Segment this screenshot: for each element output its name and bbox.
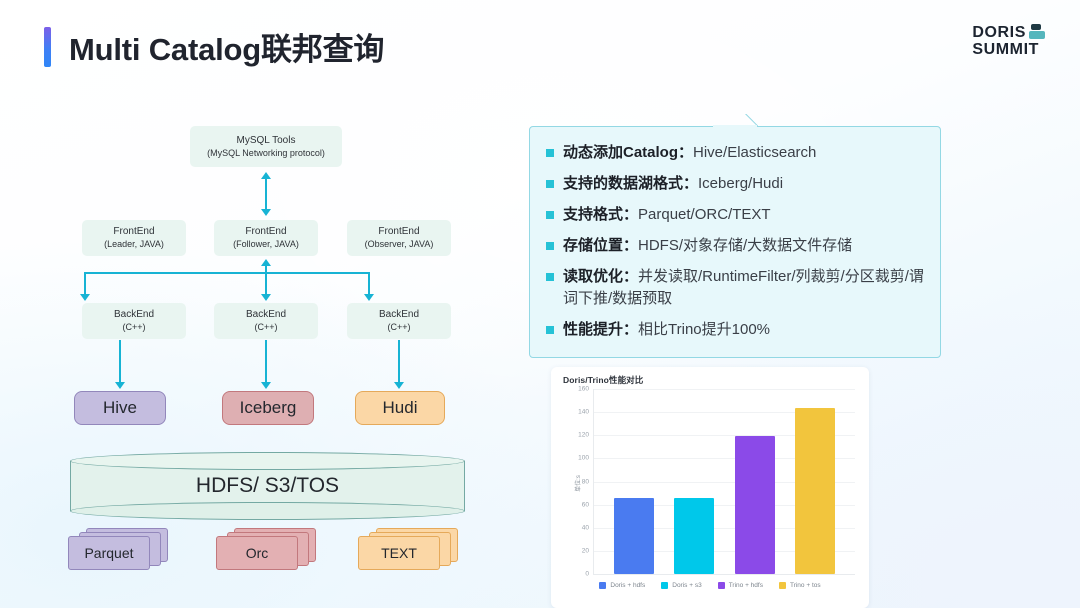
arrow-line-be2-iceberg <box>265 340 267 384</box>
feature-label-2: 支持格式： <box>563 206 638 223</box>
feature-list: 动态添加Catalog：Hive/Elasticsearch 支持的数据湖格式：… <box>546 142 926 350</box>
legend-swatch-icon <box>779 582 786 589</box>
chart-bars <box>594 389 855 574</box>
feature-label-0: 动态添加Catalog： <box>563 144 693 161</box>
node-backend-1-line2: (C++) <box>122 321 145 334</box>
node-backend-2: BackEnd (C++) <box>214 303 318 339</box>
chart-y-axis-label: 单位:s <box>573 475 582 492</box>
chart-bar <box>614 498 654 574</box>
node-mysql-tools: MySQL Tools (MySQL Networking protocol) <box>190 126 342 167</box>
arrow-down-hive-icon <box>115 382 125 389</box>
doris-summit-logo: DORIS SUMMIT <box>972 24 1046 58</box>
feature-value-5: 相比Trino提升100% <box>638 321 770 338</box>
node-frontend-follower-line2: (Follower, JAVA) <box>233 238 299 251</box>
bullet-square-icon <box>546 273 554 281</box>
chart-y-tick-label: 140 <box>578 409 589 416</box>
storage-cylinder: HDFS/ S3/TOS <box>70 452 465 520</box>
chart-legend-label: Doris + hdfs <box>610 582 645 589</box>
bullet-square-icon <box>546 180 554 188</box>
node-backend-2-line1: BackEnd <box>246 308 286 321</box>
chart-plot-area: 020406080100120140160 <box>593 389 855 574</box>
node-frontend-observer-line1: FrontEnd <box>378 225 419 238</box>
file-stack-orc: Orc <box>216 528 316 570</box>
chart-bar <box>674 498 714 574</box>
chart-legend-label: Trino + hdfs <box>729 582 763 589</box>
file-stack-parquet-label: Parquet <box>84 545 133 561</box>
bullet-square-icon <box>546 326 554 334</box>
feature-value-3: HDFS/对象存储/大数据文件存储 <box>638 237 852 254</box>
file-stack-parquet: Parquet <box>68 528 168 570</box>
chart-bar <box>735 436 775 574</box>
chart-bar <box>795 408 835 575</box>
chart-y-tick-label: 60 <box>582 501 589 508</box>
doris-logo-mark-icon <box>1029 24 1046 41</box>
arrow-line-be1-hive <box>119 340 121 384</box>
arrow-down-iceberg-icon <box>261 382 271 389</box>
feature-item-storage-location: 存储位置：HDFS/对象存储/大数据文件存储 <box>546 235 926 257</box>
node-hudi: Hudi <box>355 391 445 425</box>
arrow-down-be-mid-icon <box>261 294 271 301</box>
node-backend-3-line2: (C++) <box>387 321 410 334</box>
chart-y-tick-label: 40 <box>582 524 589 531</box>
feature-value-2: Parquet/ORC/TEXT <box>638 206 771 223</box>
node-frontend-follower: FrontEnd (Follower, JAVA) <box>214 220 318 256</box>
node-hudi-label: Hudi <box>383 398 418 418</box>
node-frontend-leader-line1: FrontEnd <box>113 225 154 238</box>
arrow-down-icon <box>261 209 271 216</box>
feature-label-5: 性能提升： <box>563 321 638 338</box>
chart-legend-label: Doris + s3 <box>672 582 701 589</box>
bullet-square-icon <box>546 242 554 250</box>
node-backend-1: BackEnd (C++) <box>82 303 186 339</box>
node-backend-3-line1: BackEnd <box>379 308 419 321</box>
bullet-square-icon <box>546 211 554 219</box>
node-frontend-leader: FrontEnd (Leader, JAVA) <box>82 220 186 256</box>
chart-legend-item[interactable]: Trino + tos <box>779 582 821 589</box>
chart-legend-item[interactable]: Doris + hdfs <box>599 582 645 589</box>
node-frontend-observer: FrontEnd (Observer, JAVA) <box>347 220 451 256</box>
logo-text-summit: SUMMIT <box>972 41 1039 58</box>
feature-item-supported-formats: 支持格式：Parquet/ORC/TEXT <box>546 204 926 226</box>
chart-x-axis <box>593 574 855 575</box>
chart-y-tick-label: 20 <box>582 547 589 554</box>
chart-y-tick-label: 160 <box>578 386 589 393</box>
bullet-square-icon <box>546 149 554 157</box>
feature-label-3: 存储位置： <box>563 237 638 254</box>
feature-callout-box: 动态添加Catalog：Hive/Elasticsearch 支持的数据湖格式：… <box>529 126 941 358</box>
node-iceberg-label: Iceberg <box>240 398 297 418</box>
feature-item-dynamic-catalog: 动态添加Catalog：Hive/Elasticsearch <box>546 142 926 164</box>
node-hive: Hive <box>74 391 166 425</box>
legend-swatch-icon <box>661 582 668 589</box>
file-stack-text: TEXT <box>358 528 458 570</box>
chart-y-tick-label: 100 <box>578 455 589 462</box>
node-backend-3: BackEnd (C++) <box>347 303 451 339</box>
chart-legend-item[interactable]: Trino + hdfs <box>718 582 763 589</box>
chart-title: Doris/Trino性能对比 <box>563 374 643 386</box>
node-iceberg: Iceberg <box>222 391 314 425</box>
feature-item-read-optimization: 读取优化：并发读取/RuntimeFilter/列裁剪/分区裁剪/谓词下推/数据… <box>546 266 926 310</box>
bus-drop-left <box>84 272 86 296</box>
feature-value-1: Iceberg/Hudi <box>698 175 783 192</box>
logo-text-doris: DORIS <box>972 24 1026 41</box>
bus-drop-right <box>368 272 370 296</box>
title-accent-bar <box>44 27 51 67</box>
chart-y-tick-label: 80 <box>582 478 589 485</box>
chart-legend-label: Trino + tos <box>790 582 821 589</box>
performance-chart-card: Doris/Trino性能对比 单位:s 0204060801001201401… <box>551 367 869 608</box>
feature-label-4: 读取优化： <box>563 268 638 285</box>
arrow-line-be3-hudi <box>398 340 400 384</box>
legend-swatch-icon <box>718 582 725 589</box>
node-mysql-tools-line2: (MySQL Networking protocol) <box>207 147 325 160</box>
feature-item-lake-formats: 支持的数据湖格式：Iceberg/Hudi <box>546 173 926 195</box>
arrow-down-be-left-icon <box>80 294 90 301</box>
node-backend-2-line2: (C++) <box>254 321 277 334</box>
node-hive-label: Hive <box>103 398 137 418</box>
node-frontend-leader-line2: (Leader, JAVA) <box>104 238 164 251</box>
storage-label: HDFS/ S3/TOS <box>196 474 339 498</box>
page-header: Multi Catalog联邦查询 <box>44 24 384 69</box>
feature-item-performance: 性能提升：相比Trino提升100% <box>546 319 926 341</box>
chart-y-tick-label: 120 <box>578 432 589 439</box>
arrow-down-be-right-icon <box>364 294 374 301</box>
node-mysql-tools-line1: MySQL Tools <box>237 134 296 147</box>
legend-swatch-icon <box>599 582 606 589</box>
chart-legend-item[interactable]: Doris + s3 <box>661 582 701 589</box>
feature-value-0: Hive/Elasticsearch <box>693 144 816 161</box>
bus-drop-mid <box>265 272 267 296</box>
file-stack-text-label: TEXT <box>381 545 417 561</box>
architecture-diagram: MySQL Tools (MySQL Networking protocol) … <box>0 104 512 604</box>
node-frontend-observer-line2: (Observer, JAVA) <box>365 238 434 251</box>
bus-line-horizontal <box>84 272 369 274</box>
chart-y-tick-label: 0 <box>585 571 589 578</box>
chart-legend: Doris + hdfsDoris + s3Trino + hdfsTrino … <box>551 582 869 589</box>
feature-label-1: 支持的数据湖格式： <box>563 175 698 192</box>
node-frontend-follower-line1: FrontEnd <box>245 225 286 238</box>
file-stack-orc-label: Orc <box>246 545 269 561</box>
arrow-down-hudi-icon <box>394 382 404 389</box>
arrow-line-mysql-fe <box>265 178 267 210</box>
node-backend-1-line1: BackEnd <box>114 308 154 321</box>
page-title: Multi Catalog联邦查询 <box>69 24 384 69</box>
